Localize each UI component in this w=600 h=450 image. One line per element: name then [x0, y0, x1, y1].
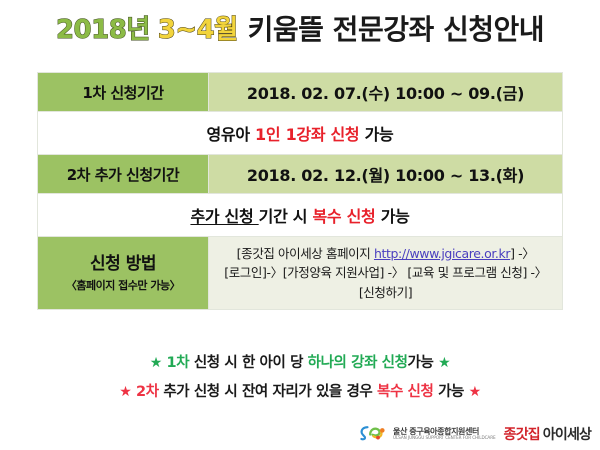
logo-brand-first: 종갓집	[504, 427, 540, 443]
note1-mid: 신청 시 한 아이 당	[189, 355, 307, 371]
poster-title: 2018년 3~4월 키움뜰 전문강좌 신청안내	[0, 8, 600, 52]
row5-line1-pre: [종갓집 아이세상 홈페이지	[237, 246, 374, 261]
row3-value: 2018. 02. 12.(월) 10:00 ~ 13.(화)	[209, 155, 563, 194]
logo-center-english: ULSAN JUNGGU SUPPORT CENTER FOR CHILDCAR…	[393, 436, 496, 440]
table-row: 영유아 1인 1강좌 신청 가능	[38, 112, 563, 155]
row5-line1-post: ] -〉	[510, 246, 534, 261]
note2-accent1: 2차	[136, 384, 159, 400]
row2-highlight: 1인 1강좌 신청	[255, 125, 359, 144]
note1-accent2: 하나의 강좌 신청	[308, 355, 408, 371]
row5-label: 신청 방법 〈홈페이지 접수만 가능〉	[38, 237, 209, 310]
row5-line2: [로그인]-〉[가정양육 지원사업] -〉 [교육 및 프로그램 신청] -〉	[209, 263, 562, 282]
table-row: 1차 신청기간 2018. 02. 07.(수) 10:00 ~ 09.(금)	[38, 73, 563, 112]
note-line-2: ★ 2차 추가 신청 시 잔여 자리가 있을 경우 복수 신청 가능 ★	[0, 385, 600, 400]
note2-accent2: 복수 신청	[377, 384, 433, 400]
table-row: 2차 추가 신청기간 2018. 02. 12.(월) 10:00 ~ 13.(…	[38, 155, 563, 194]
poster-root: 2018년 3~4월 키움뜰 전문강좌 신청안내 1차 신청기간 2018. 0…	[0, 0, 600, 450]
row5-label-subtitle: 〈홈페이지 접수만 가능〉	[38, 279, 208, 293]
table-row: 신청 방법 〈홈페이지 접수만 가능〉 [종갓집 아이세상 홈페이지 http:…	[38, 237, 563, 310]
homepage-link[interactable]: http://www.jgicare.or.kr	[374, 246, 510, 261]
row2-post: 가능	[359, 125, 393, 144]
row3-label: 2차 추가 신청기간	[38, 155, 209, 194]
organization-logo: 울산 중구육아종합지원센터 ULSAN JUNGGU SUPPORT CENTE…	[358, 421, 573, 447]
row4-mid: 기간 시	[259, 207, 313, 226]
row4-underlined: 추가 신청	[190, 207, 258, 226]
note1-accent1: 1차	[167, 355, 190, 371]
title-year: 2018년	[56, 17, 150, 43]
application-info-table: 1차 신청기간 2018. 02. 07.(수) 10:00 ~ 09.(금) …	[37, 72, 563, 310]
row4-highlight: 복수 신청	[312, 207, 375, 226]
row5-line1: [종갓집 아이세상 홈페이지 http://www.jgicare.or.kr]…	[209, 244, 562, 263]
row5-line3: [신청하기]	[209, 283, 562, 302]
row2-note: 영유아 1인 1강좌 신청 가능	[38, 112, 563, 155]
logo-brand-second: 아이세상	[543, 427, 591, 443]
footer-notes: ★ 1차 신청 시 한 아이 당 하나의 강좌 신청가능 ★ ★ 2차 추가 신…	[0, 356, 600, 399]
note2-mid: 추가 신청 시 잔여 자리가 있을 경우	[159, 384, 377, 400]
logo-center-text: 울산 중구육아종합지원센터 ULSAN JUNGGU SUPPORT CENTE…	[393, 428, 496, 441]
title-main: 키움뜰 전문강좌 신청안내	[248, 16, 544, 44]
note1-tail: 가능	[408, 355, 434, 371]
row1-value: 2018. 02. 07.(수) 10:00 ~ 09.(금)	[209, 73, 563, 112]
swirl-logo-icon	[358, 424, 388, 444]
note2-tail: 가능	[433, 384, 464, 400]
table-row: 추가 신청 기간 시 복수 신청 가능	[38, 194, 563, 237]
note-line-1: ★ 1차 신청 시 한 아이 당 하나의 강좌 신청가능 ★	[0, 356, 600, 371]
row2-pre: 영유아	[207, 125, 256, 144]
row1-label: 1차 신청기간	[38, 73, 209, 112]
star-icon: ★	[150, 355, 162, 371]
row4-post: 가능	[375, 207, 409, 226]
logo-brand: 종갓집아이세상	[504, 424, 592, 444]
row5-label-title: 신청 방법	[38, 254, 208, 275]
title-month: 3~4월	[158, 17, 238, 43]
row4-note: 추가 신청 기간 시 복수 신청 가능	[38, 194, 563, 237]
star-icon: ★	[438, 355, 450, 371]
star-icon: ★	[469, 384, 481, 400]
star-icon: ★	[119, 384, 131, 400]
row5-value: [종갓집 아이세상 홈페이지 http://www.jgicare.or.kr]…	[209, 237, 563, 310]
